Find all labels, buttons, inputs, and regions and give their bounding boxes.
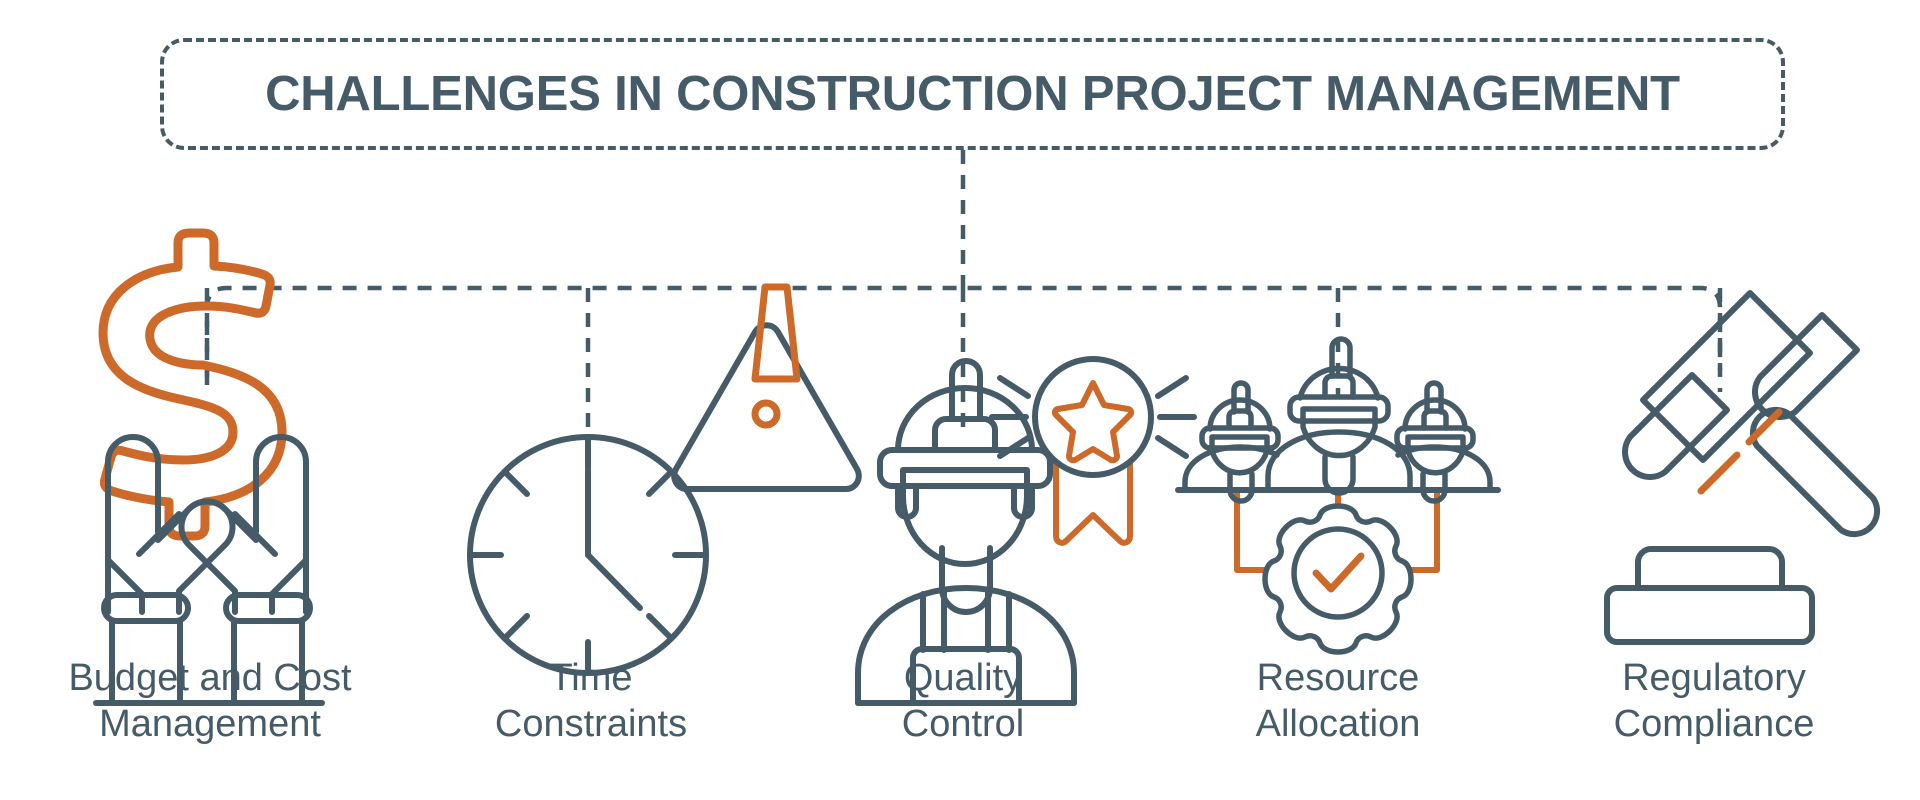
label-line-1: Quality [783,655,1143,701]
node-label-regulatory: Regulatory Compliance [1534,655,1894,748]
label-line-2: Control [783,701,1143,747]
node-label-quality: Quality Control [783,655,1143,748]
label-line-1: Budget and Cost [30,655,390,701]
warning-triangle [674,325,859,489]
label-line-1: Resource [1158,655,1518,701]
gavel-icon [1607,293,1877,642]
gavel-base [1607,549,1812,642]
gavel-head [1625,375,1727,477]
gavel-head-top [1755,315,1857,417]
workers-gear-check-icon [1178,339,1498,652]
label-line-2: Constraints [411,701,771,747]
page-title: CHALLENGES IN CONSTRUCTION PROJECT MANAG… [265,70,1680,119]
node-label-budget: Budget and Cost Management [30,655,390,748]
title-box: CHALLENGES IN CONSTRUCTION PROJECT MANAG… [160,38,1785,150]
label-line-2: Allocation [1158,701,1518,747]
clock-warning-icon [470,287,859,673]
node-label-time: Time Constraints [411,655,771,748]
infographic-canvas: CHALLENGES IN CONSTRUCTION PROJECT MANAG… [0,0,1920,800]
hands-holding-dollar-icon [96,233,322,703]
label-line-2: Management [30,701,390,747]
worker-award-badge-icon [858,359,1194,703]
label-line-2: Compliance [1534,701,1894,747]
label-line-1: Regulatory [1534,655,1894,701]
node-label-resource: Resource Allocation [1158,655,1518,748]
gavel-handle [1753,410,1877,534]
clock-hands [588,470,640,608]
worker-center [1268,339,1410,493]
gavel-barrel [1643,293,1810,460]
worker-left [1185,383,1278,501]
badge-circle [1035,359,1151,475]
label-line-1: Time [411,655,771,701]
